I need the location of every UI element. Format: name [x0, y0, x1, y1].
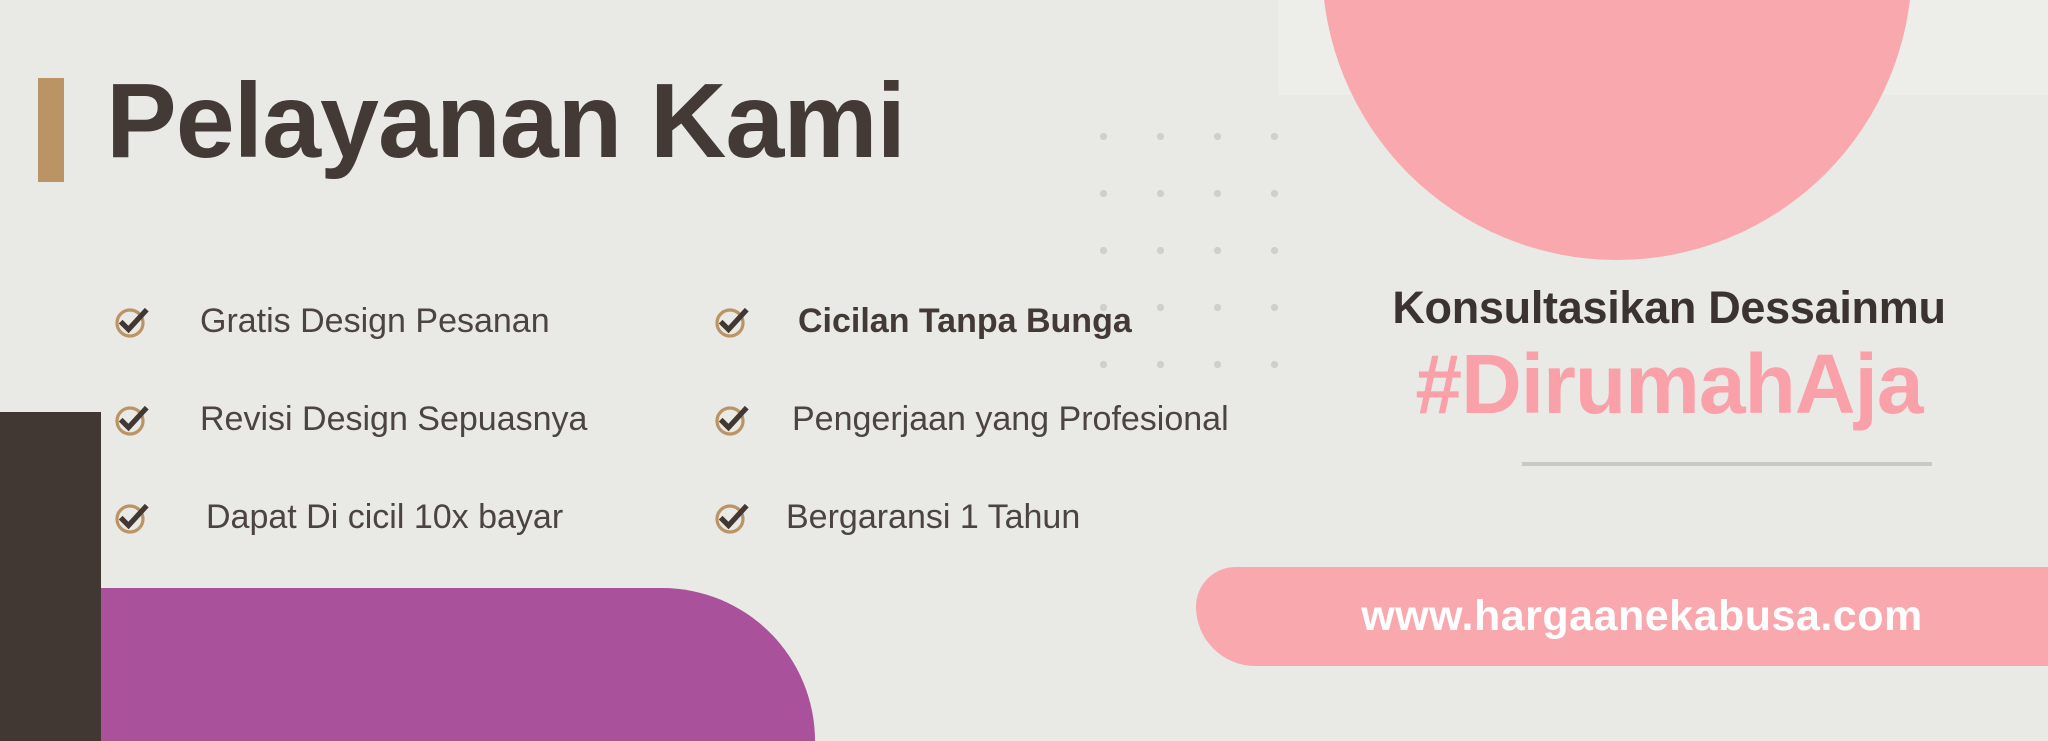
feature-item: Cicilan Tanpa Bunga [712, 272, 1292, 370]
check-circle-icon [112, 497, 152, 537]
website-url-text: www.hargaanekabusa.com [1321, 592, 1922, 641]
feature-column-left: Gratis Design Pesanan Revisi Design Sepu… [112, 272, 672, 566]
check-circle-icon [112, 301, 152, 341]
feature-item: Pengerjaan yang Profesional [712, 370, 1292, 468]
website-url-banner[interactable]: www.hargaanekabusa.com [1196, 567, 2048, 666]
feature-item: Bergaransi 1 Tahun [712, 468, 1292, 566]
pink-circle-decoration [1322, 0, 1912, 260]
check-circle-icon [712, 301, 752, 341]
accent-bar [38, 78, 64, 182]
purple-rounded-shape-decoration [101, 588, 815, 741]
page-title: Pelayanan Kami [106, 68, 905, 174]
feature-label: Cicilan Tanpa Bunga [778, 302, 1132, 341]
promotional-banner: Pelayanan Kami Gratis Design Pesanan [0, 0, 2048, 741]
feature-label: Dapat Di cicil 10x bayar [178, 498, 563, 537]
promo-underline [1522, 462, 1932, 466]
check-circle-icon [712, 497, 752, 537]
check-circle-icon [712, 399, 752, 439]
feature-item: Revisi Design Sepuasnya [112, 370, 672, 468]
feature-label: Bergaransi 1 Tahun [778, 498, 1080, 537]
feature-item: Dapat Di cicil 10x bayar [112, 468, 672, 566]
page-heading: Pelayanan Kami [38, 68, 905, 182]
feature-label: Gratis Design Pesanan [178, 302, 550, 341]
feature-label: Revisi Design Sepuasnya [178, 400, 587, 439]
promo-headline: Konsultasikan Dessainmu [1290, 282, 2048, 334]
feature-label: Pengerjaan yang Profesional [778, 400, 1229, 439]
feature-column-right: Cicilan Tanpa Bunga Pengerjaan yang Prof… [712, 272, 1292, 566]
feature-item: Gratis Design Pesanan [112, 272, 672, 370]
promo-block: Konsultasikan Dessainmu #DirumahAja [1290, 282, 2048, 428]
dark-rectangle-decoration [0, 412, 101, 741]
promo-hashtag: #DirumahAja [1290, 340, 2048, 428]
check-circle-icon [112, 399, 152, 439]
